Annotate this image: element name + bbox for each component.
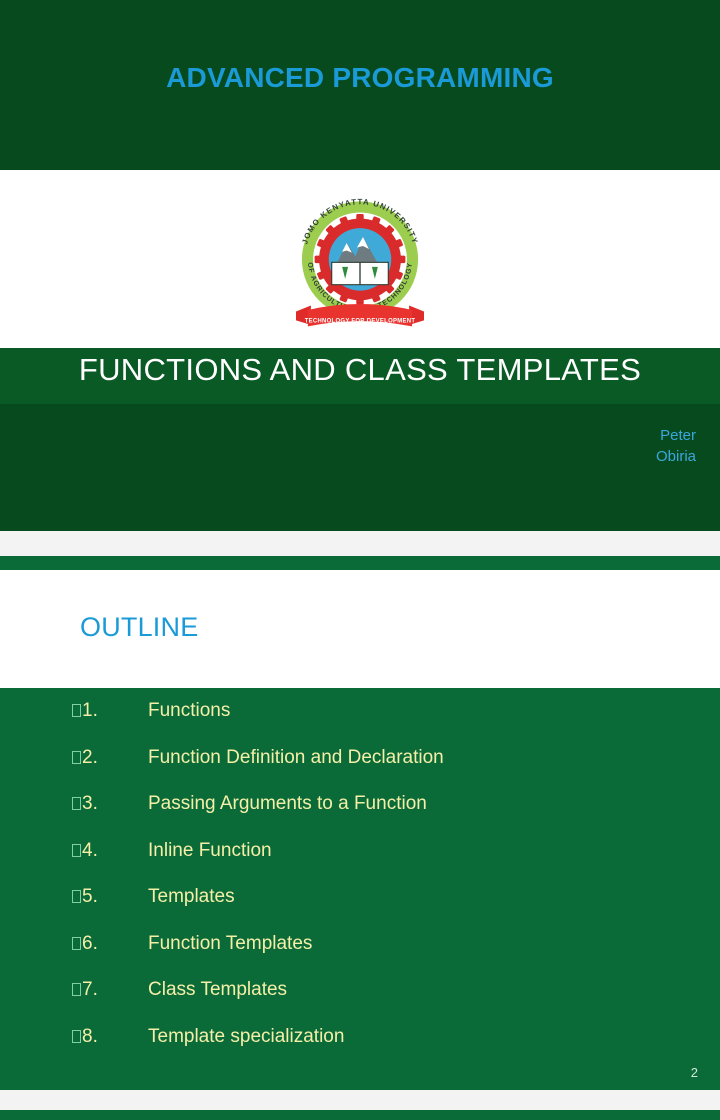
list-item-number: 1. (82, 700, 148, 722)
list-item-label: Functions (148, 700, 230, 722)
list-item-label: Templates (148, 886, 235, 908)
list-item-number: 6. (82, 933, 148, 955)
list-item-label: Function Templates (148, 933, 312, 955)
list-item[interactable]: 4. Inline Function (0, 840, 720, 887)
list-item-label: Template specialization (148, 1026, 344, 1048)
missing-glyph-box-icon (72, 1030, 81, 1043)
list-item[interactable]: 6. Function Templates (0, 933, 720, 980)
logo-ribbon-text: TECHNOLOGY FOR DEVELOPMENT (305, 319, 416, 325)
logo-band: JOMO KENYATTA UNIVERSITY OF AGRICULTURE … (0, 170, 720, 348)
list-item-number: 7. (82, 979, 148, 1001)
slide-3-partial[interactable] (0, 1110, 720, 1120)
list-item[interactable]: 3. Passing Arguments to a Function (0, 793, 720, 840)
list-item-label: Function Definition and Declaration (148, 747, 444, 769)
list-item-number: 4. (82, 840, 148, 862)
list-item[interactable]: 2. Function Definition and Declaration (0, 747, 720, 794)
slide-gap-2 (0, 1090, 720, 1110)
slide-1-title-slide[interactable]: ADVANCED PROGRAMMING (0, 0, 720, 531)
outline-list: 1. Functions 2. Function Definition and … (0, 688, 720, 1090)
slide-2-top-accent-bar (0, 556, 720, 570)
missing-glyph-box-icon (72, 890, 81, 903)
slide-2-outline-slide[interactable]: OUTLINE 1. Functions 2. Function Definit… (0, 556, 720, 1090)
author-first-name: Peter (536, 425, 696, 446)
list-item-number: 2. (82, 747, 148, 769)
list-item[interactable]: 7. Class Templates (0, 979, 720, 1026)
missing-glyph-box-icon (72, 983, 81, 996)
course-title: ADVANCED PROGRAMMING (0, 62, 720, 94)
list-item-number: 5. (82, 886, 148, 908)
slide-gap-1 (0, 531, 720, 556)
author-last-name: Obiria (536, 446, 696, 467)
slide-deck-scroll-view[interactable]: ADVANCED PROGRAMMING (0, 0, 720, 1120)
page-title: FUNCTIONS AND CLASS TEMPLATES (0, 352, 720, 388)
list-item-number: 3. (82, 793, 148, 815)
list-item-label: Class Templates (148, 979, 287, 1001)
missing-glyph-box-icon (72, 844, 81, 857)
list-item[interactable]: 5. Templates (0, 886, 720, 933)
list-item[interactable]: 8. Template specialization (0, 1026, 720, 1073)
list-item-label: Inline Function (148, 840, 272, 862)
list-item-label: Passing Arguments to a Function (148, 793, 427, 815)
list-item[interactable]: 1. Functions (0, 700, 720, 747)
jkuat-university-logo: JOMO KENYATTA UNIVERSITY OF AGRICULTURE … (285, 179, 435, 339)
outline-heading: OUTLINE (80, 612, 198, 643)
missing-glyph-box-icon (72, 797, 81, 810)
page-number: 2 (691, 1065, 698, 1080)
missing-glyph-box-icon (72, 704, 81, 717)
missing-glyph-box-icon (72, 751, 81, 764)
author-block: Peter Obiria (536, 425, 696, 467)
missing-glyph-box-icon (72, 937, 81, 950)
list-item-number: 8. (82, 1026, 148, 1048)
